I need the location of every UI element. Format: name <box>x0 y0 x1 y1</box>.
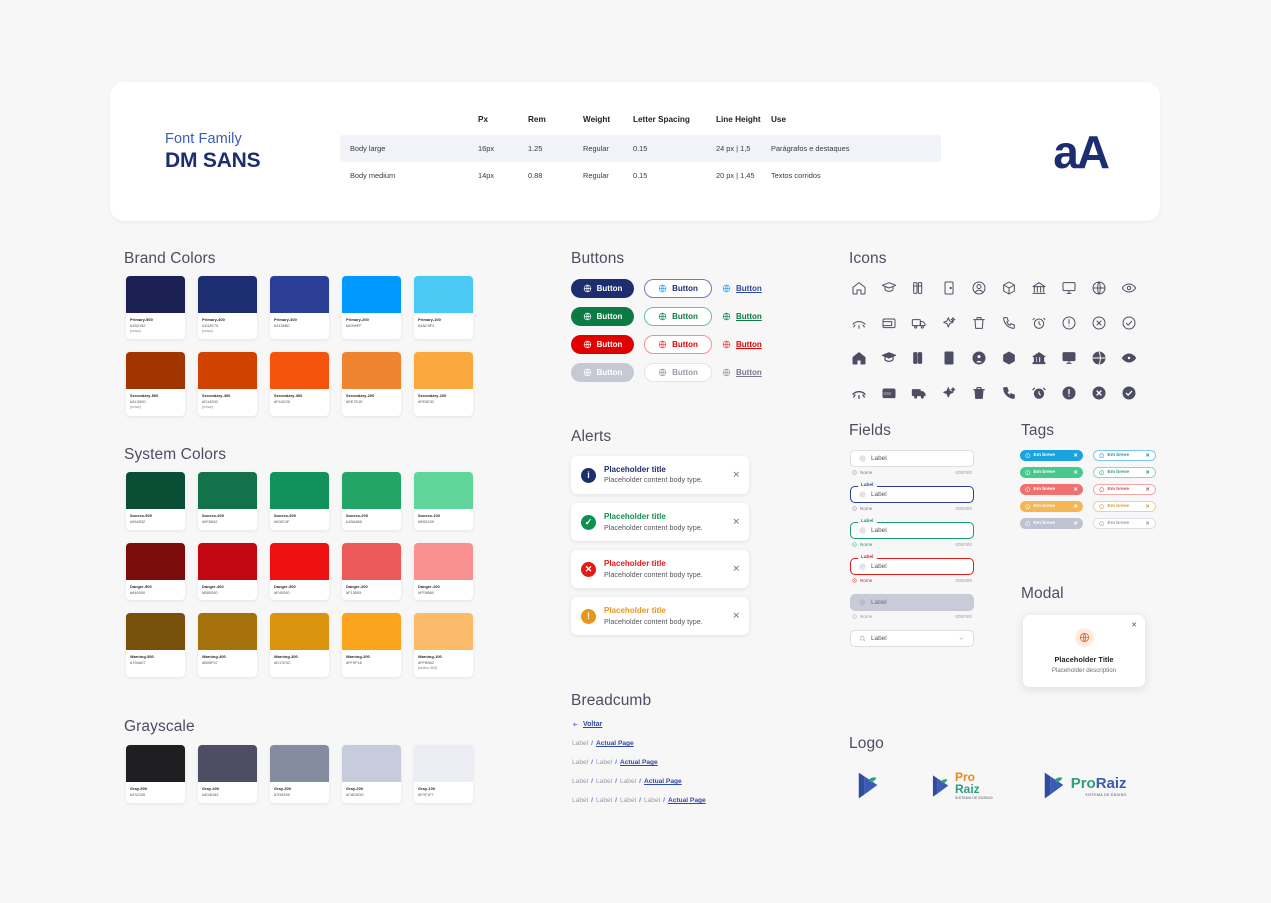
color-meta: Primary-200#0099FF <box>342 313 401 334</box>
logo-tagline: SISTEMA DE ENSINO <box>955 797 993 800</box>
search-placeholder: Label <box>871 635 887 642</box>
color-hex: #4AC9F4 <box>418 323 469 329</box>
button-text-disabled[interactable]: Button <box>722 363 762 382</box>
eye-off-icon <box>848 382 870 404</box>
field-helper: Nome <box>852 542 872 547</box>
button-label: Button <box>672 312 698 321</box>
color-hex: #FE9E32 <box>418 399 469 405</box>
color-hex: #4D4D63 <box>202 792 253 798</box>
breadcrumb-label[interactable]: Label <box>620 797 636 804</box>
tag-label: Em breve <box>1108 487 1130 492</box>
bank-icon <box>1028 347 1050 369</box>
breadcrumb-current[interactable]: Actual Page <box>644 778 682 785</box>
wallet-icon <box>878 382 900 404</box>
breadcrumb-label[interactable]: Label <box>572 778 588 785</box>
color-chip <box>414 745 473 782</box>
tag-label: Em breve <box>1034 521 1056 526</box>
alert-close-button[interactable]: ✕ <box>732 611 740 622</box>
color-meta: Sucess-400#0F6842 <box>198 509 257 530</box>
button-outline-success[interactable]: Button <box>644 307 712 326</box>
bank-icon <box>1028 277 1050 299</box>
button-label: Button <box>597 312 623 321</box>
phone-call-icon <box>998 312 1020 334</box>
placeholder-icon <box>859 563 866 570</box>
user-circle-icon <box>968 347 990 369</box>
color-meta: Warning-500#794A07 <box>126 650 185 671</box>
button-label: Button <box>736 312 762 321</box>
breadcrumb-separator: / <box>639 797 641 804</box>
tags-grid: Em breve✕Em breve✕Em breve✕Em breve✕Em b… <box>1020 450 1156 529</box>
color-note: (nova) <box>130 329 181 335</box>
field-counter: 000/000 <box>955 542 972 547</box>
cell-px: 16px <box>478 135 528 162</box>
globe-icon <box>722 340 731 349</box>
color-swatch: Secondary-100#FE9E32 <box>414 352 473 415</box>
color-swatch: Secondary-400#D14200(nova) <box>198 352 257 415</box>
field-meta: Nome000/000 <box>850 614 974 619</box>
field-success: LabelLabelNome000/000 <box>850 522 974 547</box>
button-outline-danger[interactable]: Button <box>644 335 712 354</box>
tag-label: Em breve <box>1034 453 1056 458</box>
color-meta: Warning-100#FFB562(antes 300) <box>414 650 473 676</box>
breadcrumb-label[interactable]: Label <box>596 759 612 766</box>
x-circle-icon <box>1088 382 1110 404</box>
globe-icon <box>722 312 731 321</box>
font-family-label: Font Family <box>165 131 340 147</box>
tag-label: Em breve <box>1034 487 1056 492</box>
breadcrumb-back-link[interactable]: Voltar <box>572 721 706 728</box>
color-swatch: Danger-100#FF8888 <box>414 543 473 601</box>
logo-title: Logo <box>849 735 884 753</box>
color-meta: Secondary-200#EE7E1E <box>342 389 401 410</box>
breadcrumb-separator: / <box>591 778 593 785</box>
brand-colors-title: Brand Colors <box>124 250 216 268</box>
check-circle-icon <box>1118 312 1140 334</box>
arrow-left-icon <box>572 721 579 728</box>
globe-icon <box>583 368 592 377</box>
color-swatch: Sucess-200#1BA660 <box>342 472 401 530</box>
color-chip <box>414 543 473 580</box>
color-meta: Secondary-400#D14200(nova) <box>198 389 257 415</box>
logo-horizontal: ProRaiz SISTEMA DE ENSINO <box>1041 770 1127 801</box>
cell-weight: Regular <box>583 162 633 189</box>
sparkles-icon <box>938 312 960 334</box>
color-hex: #B80000 <box>202 590 253 596</box>
alert-close-button[interactable]: ✕ <box>732 564 740 575</box>
color-chip <box>342 543 401 580</box>
alert-body: Placeholder content body type. <box>604 617 703 627</box>
color-hex: #F15555 <box>346 590 397 596</box>
tag-solid[interactable]: Em breve✕ <box>1020 501 1083 512</box>
breadcrumb-current[interactable]: Actual Page <box>620 759 658 766</box>
modal-close-button[interactable]: ✕ <box>1131 621 1137 629</box>
style-guide-page: Font Family DM SANS Px Rem Weight Letter… <box>0 0 1271 903</box>
color-swatch: Primary-100#4AC9F4 <box>414 276 473 339</box>
breadcrumb-label[interactable]: Label <box>596 797 612 804</box>
logo-pro-text: Pro <box>1071 775 1096 792</box>
cell-letter-spacing: 0.15 <box>633 162 716 189</box>
tag-close-button[interactable]: ✕ <box>1073 504 1078 510</box>
fields-list: LabelNome000/000LabelLabelNome000/000Lab… <box>850 450 974 647</box>
color-meta: Gray-100#F0F1F7 <box>414 782 473 803</box>
user-circle-icon <box>968 277 990 299</box>
tag-outline[interactable]: Em breve✕ <box>1093 467 1156 478</box>
graduation-cap-icon <box>878 277 900 299</box>
alert-title: Placeholder title <box>604 465 703 475</box>
color-chip <box>342 276 401 313</box>
color-hex: #D17E0C <box>274 660 325 666</box>
breadcrumb-separator: / <box>615 759 617 766</box>
button-label: Button <box>672 340 698 349</box>
th-name <box>340 115 478 135</box>
tag-solid[interactable]: Em breve✕ <box>1020 450 1083 461</box>
cell-line-height: 20 px | 1,45 <box>716 162 771 189</box>
info-circle-icon <box>1099 521 1105 527</box>
breadcrumb-separator: / <box>591 740 593 747</box>
color-swatch: Secondary-200#EE7E1E <box>342 352 401 415</box>
buttons-title-wrap: Buttons <box>571 250 624 268</box>
color-meta: Primary-300#2438BC <box>270 313 329 334</box>
alerts-list: iPlaceholder titlePlaceholder content bo… <box>571 456 749 635</box>
graduation-cap-icon <box>878 347 900 369</box>
color-swatch-row: Gray-500#232326Gray-400#4D4D63Gray-300#7… <box>126 745 473 803</box>
tag-label: Em breve <box>1108 470 1130 475</box>
typography-table: Px Rem Weight Letter Spacing Line Height… <box>340 115 941 189</box>
search-select-input[interactable]: Label <box>850 630 974 647</box>
table-row: Body medium 14px 0.88 Regular 0.15 20 px… <box>340 162 941 189</box>
color-meta: Gray-500#232326 <box>126 782 185 803</box>
color-hex: #794A07 <box>130 660 181 666</box>
system-colors-title-wrap: System Colors <box>124 446 226 464</box>
tag-solid[interactable]: Em breve✕ <box>1020 467 1083 478</box>
placeholder-icon <box>859 455 866 462</box>
color-hex: #F0F1F7 <box>418 792 469 798</box>
tag-outline[interactable]: Em breve✕ <box>1093 450 1156 461</box>
color-chip <box>342 613 401 650</box>
cell-letter-spacing: 0.15 <box>633 135 716 162</box>
th-use: Use <box>771 115 941 135</box>
field-counter: 000/000 <box>955 614 972 619</box>
globe-icon <box>583 340 592 349</box>
color-swatch: Gray-500#232326 <box>126 745 185 803</box>
tag-close-button[interactable]: ✕ <box>1145 504 1150 510</box>
breadcrumb-current[interactable]: Actual Page <box>668 797 706 804</box>
cell-rem: 1.25 <box>528 135 583 162</box>
tag-close-button[interactable]: ✕ <box>1073 521 1078 527</box>
alert-success-icon: ✓ <box>581 515 596 530</box>
button-label: Button <box>736 368 762 377</box>
color-chip <box>342 352 401 389</box>
cell-use: Parágrafos e destaques <box>771 135 941 162</box>
color-swatch: Danger-300#E40000 <box>270 543 329 601</box>
button-text-success[interactable]: Button <box>722 307 762 326</box>
color-meta: Sucess-500#064532 <box>126 509 185 530</box>
info-circle-icon <box>1099 470 1105 476</box>
tag-solid[interactable]: Em breve✕ <box>1020 484 1083 495</box>
alert-close-button[interactable]: ✕ <box>732 470 740 481</box>
color-swatch: Gray-100#F0F1F7 <box>414 745 473 803</box>
alert-close-button[interactable]: ✕ <box>732 517 740 528</box>
modal-description: Placeholder description <box>1033 667 1135 674</box>
button-outline-disabled[interactable]: Button <box>644 363 712 382</box>
books-icon <box>908 347 930 369</box>
button-solid-success[interactable]: Button <box>571 307 634 326</box>
button-label: Button <box>736 340 762 349</box>
field-counter: 000/000 <box>955 578 972 583</box>
cell-rem: 0.88 <box>528 162 583 189</box>
color-hex: #7D8395 <box>274 792 325 798</box>
alert-warning: !Placeholder titlePlaceholder content bo… <box>571 597 749 635</box>
button-solid-primary[interactable]: Button <box>571 279 634 298</box>
color-swatch-row: Secondary-500#A13500(nova)Secondary-400#… <box>126 352 473 415</box>
color-swatch: Danger-500#840000 <box>126 543 185 601</box>
chevron-down-icon[interactable] <box>958 635 965 642</box>
color-swatch-row: Danger-500#840000Danger-400#B80000Danger… <box>126 543 473 601</box>
alert-info: iPlaceholder titlePlaceholder content bo… <box>571 456 749 494</box>
color-chip <box>198 613 257 650</box>
button-row-disabled: ButtonButtonButton <box>571 363 762 382</box>
color-chip <box>270 472 329 509</box>
tag-close-button[interactable]: ✕ <box>1073 453 1078 459</box>
cell-use: Textos corridos <box>771 162 941 189</box>
alert-text: Placeholder titlePlaceholder content bod… <box>604 606 703 626</box>
field-input-default[interactable]: Label <box>850 450 974 467</box>
tag-solid[interactable]: Em breve✕ <box>1020 518 1083 529</box>
modal-title-wrap: Modal <box>1021 585 1064 603</box>
logo-wordmark-stacked: Pro Raiz SISTEMA DE ENSINO <box>955 771 993 800</box>
color-meta: Danger-200#F15555 <box>342 580 401 601</box>
button-row-danger: ButtonButtonButton <box>571 335 762 354</box>
tag-close-button[interactable]: ✕ <box>1073 487 1078 493</box>
color-hex: #FF8888 <box>418 590 469 596</box>
alert-title: Placeholder title <box>604 512 703 522</box>
tags-title-wrap: Tags <box>1021 422 1054 440</box>
color-hex: #FF9F18 <box>346 660 397 666</box>
icons-grid <box>848 277 1148 404</box>
info-circle-icon <box>852 470 857 475</box>
breadcrumb-label[interactable]: Label <box>572 759 588 766</box>
cell-px: 14px <box>478 162 528 189</box>
field-counter: 000/000 <box>955 506 972 511</box>
color-note: (antes 300) <box>418 666 469 672</box>
breadcrumb-current[interactable]: Actual Page <box>596 740 634 747</box>
grayscale-grid: Gray-500#232326Gray-400#4D4D63Gray-300#7… <box>126 745 473 803</box>
info-circle-icon <box>1099 487 1105 493</box>
breadcrumb-list: VoltarLabel/Actual PageLabel/Label/Actua… <box>572 721 706 804</box>
color-meta: Danger-100#FF8888 <box>414 580 473 601</box>
color-hex: #0F6842 <box>202 519 253 525</box>
tag-outline[interactable]: Em breve✕ <box>1093 484 1156 495</box>
tag-close-button[interactable]: ✕ <box>1145 470 1150 476</box>
tag-label: Em breve <box>1108 453 1130 458</box>
logo-raiz-text: Raiz <box>955 783 993 795</box>
check-circle-icon <box>1118 382 1140 404</box>
logo-raiz-text: Raiz <box>1096 775 1127 792</box>
button-label: Button <box>597 368 623 377</box>
tags-title: Tags <box>1021 422 1054 440</box>
grayscale-title: Grayscale <box>124 718 195 736</box>
breadcrumb-label[interactable]: Label <box>644 797 660 804</box>
door-icon <box>938 347 960 369</box>
color-chip <box>414 613 473 650</box>
globe-icon <box>722 368 731 377</box>
color-swatch: Primary-300#2438BC <box>270 276 329 339</box>
color-chip <box>270 543 329 580</box>
button-solid-danger[interactable]: Button <box>571 335 634 354</box>
breadcrumb-label[interactable]: Label <box>596 778 612 785</box>
field-helper: Nome <box>852 506 872 511</box>
breadcrumb-row: Label/Actual Page <box>572 740 706 747</box>
color-swatch: Warning-200#FF9F18 <box>342 613 401 676</box>
color-meta: Secondary-500#A13500(nova) <box>126 389 185 415</box>
alerts-title-wrap: Alerts <box>571 428 611 446</box>
truck-icon <box>908 312 930 334</box>
color-note: (nova) <box>130 405 181 411</box>
field-default: LabelNome000/000 <box>850 450 974 475</box>
field-helper-text: Nome <box>860 578 872 583</box>
box-icon <box>998 277 1020 299</box>
color-note: (nova) <box>202 329 253 335</box>
button-text-primary[interactable]: Button <box>722 279 762 298</box>
tag-close-button[interactable]: ✕ <box>1073 470 1078 476</box>
color-hex: #0099FF <box>346 323 397 329</box>
breadcrumb-label[interactable]: Label <box>572 740 588 747</box>
color-meta: Warning-200#FF9F18 <box>342 650 401 671</box>
info-circle-icon <box>852 614 857 619</box>
tag-close-button[interactable]: ✕ <box>1145 453 1150 459</box>
buttons-grid: ButtonButtonButtonButtonButtonButtonButt… <box>571 279 762 382</box>
proraiz-mark-icon <box>855 770 882 801</box>
system-colors-title: System Colors <box>124 446 226 464</box>
breadcrumb-separator: / <box>615 778 617 785</box>
field-float-label: Label <box>858 518 877 523</box>
color-meta: Warning-300#D17E0C <box>270 650 329 671</box>
cell-weight: Regular <box>583 135 633 162</box>
globe-icon <box>583 284 592 293</box>
color-hex: #C8D0DD <box>346 792 397 798</box>
color-swatch: Primary-400#1D2E70(nova) <box>198 276 257 339</box>
logo-names: ProRaiz <box>1071 775 1127 792</box>
info-circle-icon <box>1025 504 1031 510</box>
color-chip <box>270 352 329 389</box>
globe-icon <box>1079 632 1090 643</box>
alert-circle-icon <box>1058 382 1080 404</box>
field-input-success[interactable]: Label <box>850 522 974 539</box>
buttons-title: Buttons <box>571 250 624 268</box>
color-hex: #E40000 <box>274 590 325 596</box>
field-input-disabled[interactable]: Label <box>850 594 974 611</box>
color-hex: #064532 <box>130 519 181 525</box>
field-input-error[interactable]: Label <box>850 558 974 575</box>
alert-text: Placeholder titlePlaceholder content bod… <box>604 465 703 485</box>
alerts-title: Alerts <box>571 428 611 446</box>
tag-close-button[interactable]: ✕ <box>1145 521 1150 527</box>
field-meta: Nome000/000 <box>850 578 974 583</box>
breadcrumb-separator: / <box>663 797 665 804</box>
books-icon <box>908 277 930 299</box>
field-helper-text: Nome <box>860 542 872 547</box>
tag-label: Em breve <box>1108 521 1130 526</box>
truck-icon <box>908 382 930 404</box>
button-solid-disabled[interactable]: Button <box>571 363 634 382</box>
breadcrumb-separator: / <box>639 778 641 785</box>
tag-close-button[interactable]: ✕ <box>1145 487 1150 493</box>
color-meta: Secondary-100#FE9E32 <box>414 389 473 410</box>
breadcrumb-label[interactable]: Label <box>572 797 588 804</box>
breadcrumb-label[interactable]: Label <box>620 778 636 785</box>
field-placeholder: Label <box>871 599 887 606</box>
field-focus: LabelLabelNome000/000 <box>850 486 974 511</box>
button-outline-primary[interactable]: Button <box>644 279 712 298</box>
alert-text: Placeholder titlePlaceholder content bod… <box>604 512 703 532</box>
brand-colors-title-wrap: Brand Colors <box>124 250 216 268</box>
grayscale-title-wrap: Grayscale <box>124 718 195 736</box>
button-label: Button <box>736 284 762 293</box>
field-meta: Nome000/000 <box>850 506 974 511</box>
color-hex: #55D159 <box>418 519 469 525</box>
color-swatch-row: Primary-500#1B2152(nova)Primary-400#1D2E… <box>126 276 473 339</box>
info-circle-icon <box>1099 504 1105 510</box>
color-chip <box>414 276 473 313</box>
color-chip <box>126 472 185 509</box>
color-hex: #EE7E1E <box>346 399 397 405</box>
color-chip <box>126 613 185 650</box>
color-meta: Sucess-100#55D159 <box>414 509 473 530</box>
color-swatch: Sucess-500#064532 <box>126 472 185 530</box>
color-meta: Secondary-300#F44C00 <box>270 389 329 410</box>
button-row-primary: ButtonButtonButton <box>571 279 762 298</box>
alarm-clock-icon <box>1028 312 1050 334</box>
color-meta: Gray-200#C8D0DD <box>342 782 401 803</box>
tag-outline[interactable]: Em breve✕ <box>1093 518 1156 529</box>
info-circle-icon <box>1025 487 1031 493</box>
icons-title: Icons <box>849 250 887 268</box>
globe-icon <box>1088 347 1110 369</box>
color-chip <box>126 352 185 389</box>
tag-label: Em breve <box>1108 504 1130 509</box>
modal-title: Placeholder Title <box>1033 655 1135 664</box>
x-circle-icon <box>852 578 857 583</box>
field-placeholder: Label <box>871 563 887 570</box>
alert-danger-icon: ✕ <box>581 562 596 577</box>
info-circle-icon <box>1099 453 1105 459</box>
brand-colors-grid: Primary-500#1B2152(nova)Primary-400#1D2E… <box>126 276 473 416</box>
modal-icon-badge <box>1075 628 1094 647</box>
alert-circle-icon <box>1058 312 1080 334</box>
alert-title: Placeholder title <box>604 606 703 616</box>
alert-text: Placeholder titlePlaceholder content bod… <box>604 559 703 579</box>
field-placeholder: Label <box>871 491 887 498</box>
alert-success: ✓Placeholder titlePlaceholder content bo… <box>571 503 749 541</box>
eye-icon <box>1118 277 1140 299</box>
alert-body: Placeholder content body type. <box>604 523 703 533</box>
color-swatch-row: Warning-500#794A07Warning-400#B05F07Warn… <box>126 613 473 676</box>
breadcrumb-separator: / <box>591 797 593 804</box>
cell-line-height: 24 px | 1,5 <box>716 135 771 162</box>
button-text-danger[interactable]: Button <box>722 335 762 354</box>
color-meta: Sucess-300#00874F <box>270 509 329 530</box>
field-meta: Nome000/000 <box>850 542 974 547</box>
placeholder-icon <box>859 527 866 534</box>
check-circle-icon <box>852 542 857 547</box>
home-icon <box>848 347 870 369</box>
fields-title: Fields <box>849 422 891 440</box>
alert-body: Placeholder content body type. <box>604 570 703 580</box>
monitor-icon <box>1058 277 1080 299</box>
color-swatch: Secondary-300#F44C00 <box>270 352 329 415</box>
field-input-focus[interactable]: Label <box>850 486 974 503</box>
tag-outline[interactable]: Em breve✕ <box>1093 501 1156 512</box>
